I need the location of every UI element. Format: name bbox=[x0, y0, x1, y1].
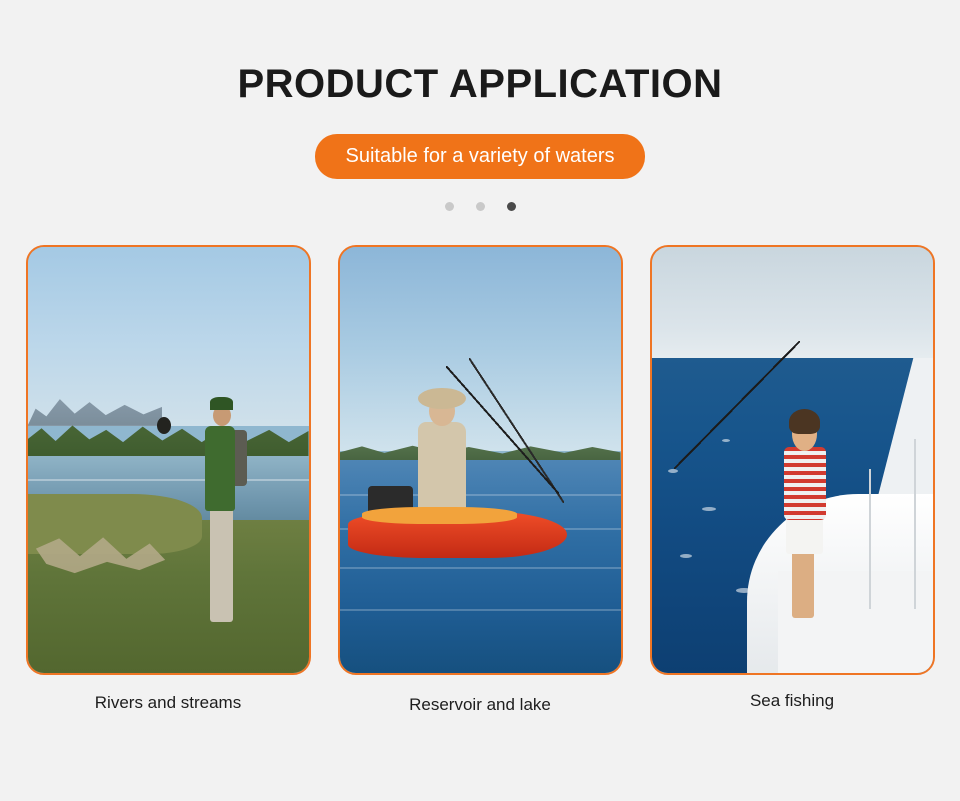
boy-striped-shirt bbox=[784, 447, 826, 519]
product-application-section: PRODUCT APPLICATION Suitable for a varie… bbox=[0, 0, 960, 801]
carousel-dot-3[interactable] bbox=[507, 202, 516, 211]
water-sparkle bbox=[680, 554, 692, 558]
card-caption-rivers: Rivers and streams bbox=[26, 693, 311, 713]
boy-legs bbox=[792, 549, 814, 617]
boat-rail bbox=[914, 439, 916, 609]
application-card-sea[interactable]: Sea fishing bbox=[650, 245, 935, 715]
application-card-reservoir[interactable]: Reservoir and lake bbox=[338, 245, 623, 715]
carousel-dot-2[interactable] bbox=[476, 202, 485, 211]
carousel-dot-1[interactable] bbox=[445, 202, 454, 211]
subtitle-badge: Suitable for a variety of waters bbox=[315, 134, 644, 179]
scene-sea-sailboat bbox=[652, 247, 933, 673]
angler-cap bbox=[210, 397, 232, 410]
badge-container: Suitable for a variety of waters bbox=[0, 134, 960, 179]
water-sparkle bbox=[702, 507, 716, 511]
photo-reservoir-and-lake bbox=[338, 245, 623, 675]
card-caption-sea: Sea fishing bbox=[650, 691, 935, 711]
kayak-deck bbox=[362, 507, 517, 524]
water-sparkle bbox=[668, 469, 678, 473]
fishing-rod bbox=[674, 341, 800, 469]
boat-rail bbox=[869, 469, 871, 610]
carousel-dots[interactable] bbox=[0, 202, 960, 211]
scene-river-bank bbox=[28, 247, 309, 673]
water-ripple bbox=[340, 567, 621, 569]
angler-legs bbox=[210, 503, 232, 622]
fishing-reel bbox=[157, 417, 171, 434]
water-ripple bbox=[340, 609, 621, 611]
application-card-rivers[interactable]: Rivers and streams bbox=[26, 245, 311, 715]
angler-torso bbox=[205, 426, 236, 511]
sky bbox=[28, 247, 309, 426]
scene-kayak-lake bbox=[340, 247, 621, 673]
photo-rivers-and-streams bbox=[26, 245, 311, 675]
kayaker-torso bbox=[418, 422, 466, 520]
boy-hair bbox=[789, 409, 820, 435]
photo-sea-fishing bbox=[650, 245, 935, 675]
application-cards: Rivers and streams bbox=[0, 245, 960, 715]
sun-hat bbox=[418, 388, 466, 409]
boy-shorts bbox=[786, 515, 823, 553]
page-title: PRODUCT APPLICATION bbox=[0, 0, 960, 108]
card-caption-reservoir: Reservoir and lake bbox=[338, 695, 623, 715]
